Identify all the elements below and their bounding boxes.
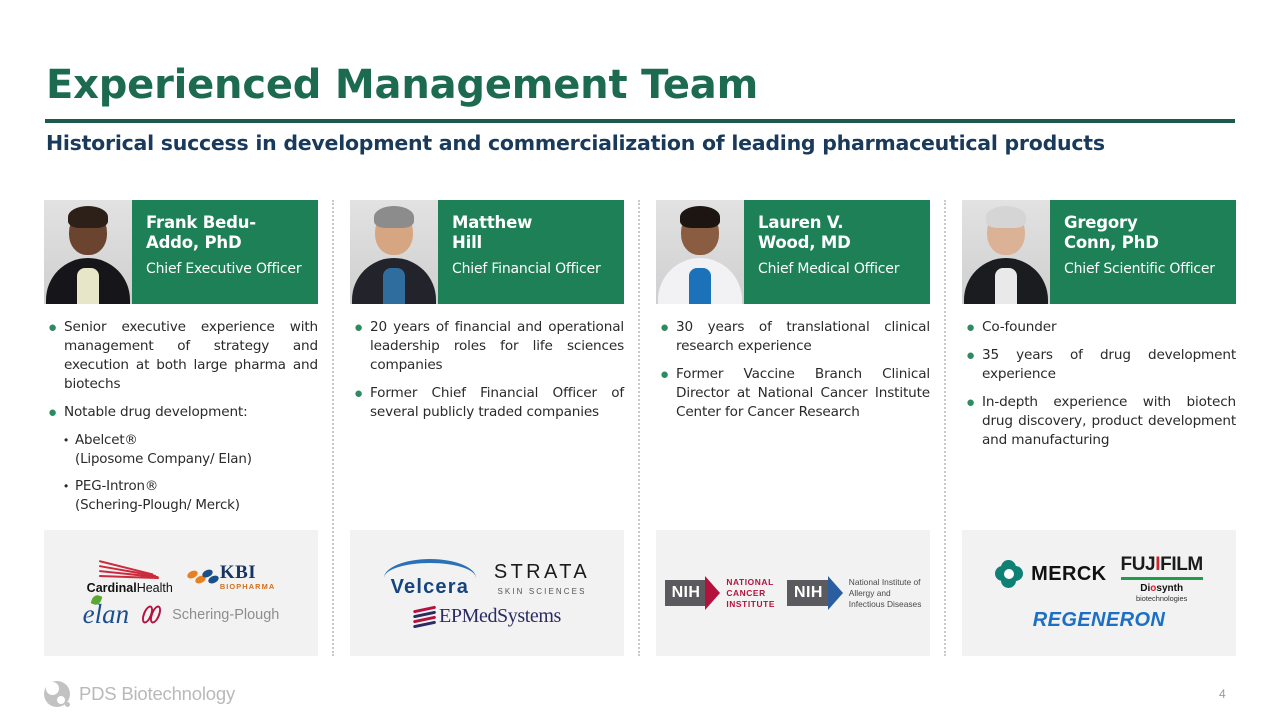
pds-swirl-icon [44,681,70,707]
schering-plough-icon [143,604,165,626]
nih-niaid-logo: NIH National Institute of Allergy and In… [787,576,921,610]
bullet-dot-icon: ● [962,346,982,384]
cardinal-health-icon [99,558,161,580]
person-name: Gregory Conn, PhD [1064,213,1226,253]
team-member-column: Frank Bedu- Addo, PhD Chief Executive Of… [44,200,318,656]
bullet-dot-icon: ● [962,318,982,337]
person-name-block: Matthew Hill Chief Financial Officer [438,200,624,304]
person-card: Matthew Hill Chief Financial Officer [350,200,624,304]
bullet-dot-icon: ● [44,318,64,394]
person-name: Matthew Hill [452,213,614,253]
pds-biotechnology-logo: PDS Biotechnology [44,681,235,707]
bullet-dot-icon: ● [350,384,370,422]
bullet-item: ● In-depth experience with biotech drug … [962,393,1236,450]
company-logo-panel: CardinalHealth KBI BIOPHARMA [44,530,318,656]
bullet-list: ● 20 years of financial and operational … [350,318,624,422]
merck-icon [995,560,1023,588]
person-card: Gregory Conn, PhD Chief Scientific Offic… [962,200,1236,304]
regeneron-logo: REGENERON [1033,609,1166,632]
bullet-dot-icon: ● [44,403,64,422]
portrait-photo [350,200,438,304]
column-divider [944,200,946,656]
page-number: 4 [1219,687,1226,701]
bullet-item: ● Senior executive experience with manag… [44,318,318,394]
person-role: Chief Medical Officer [758,261,920,278]
kbi-biopharma-logo: KBI BIOPHARMA [187,563,275,590]
team-member-column: Matthew Hill Chief Financial Officer ● 2… [350,200,624,656]
sub-bullet-item: • PEG-Intron® (Schering-Plough/ Merck) [64,477,318,515]
cardinal-health-logo: CardinalHealth [87,558,173,595]
bullet-item: ● 20 years of financial and operational … [350,318,624,375]
schering-plough-logo: Schering-Plough [143,604,279,626]
bullet-item: ● Co-founder [962,318,1236,337]
person-name-block: Gregory Conn, PhD Chief Scientific Offic… [1050,200,1236,304]
bullet-list: ● Co-founder ● 35 years of drug developm… [962,318,1236,450]
person-name: Lauren V. Wood, MD [758,213,920,253]
bullet-list: ● 30 years of translational clinical res… [656,318,930,422]
bullet-dot-icon: ● [656,318,676,356]
portrait-photo [44,200,132,304]
strata-skin-sciences-logo: STRATA SKIN SCIENCES [494,561,590,596]
person-role: Chief Financial Officer [452,261,614,278]
epmedsystems-logo: EPMedSystems [413,605,561,628]
fujifilm-bar-icon [1121,577,1203,580]
sub-bullet-dot-icon: • [64,431,75,469]
column-divider [638,200,640,656]
bullet-item: ● Former Vaccine Branch Clinical Directo… [656,365,930,422]
management-team-grid: Frank Bedu- Addo, PhD Chief Executive Of… [44,200,1236,656]
page-subtitle: Historical success in development and co… [46,131,1241,155]
person-card: Lauren V. Wood, MD Chief Medical Officer [656,200,930,304]
elan-logo: elan [83,601,130,628]
person-name-block: Lauren V. Wood, MD Chief Medical Officer [744,200,930,304]
velcera-logo: Velcera [384,559,476,599]
company-name: PDS Biotechnology [79,683,235,705]
person-card: Frank Bedu- Addo, PhD Chief Executive Of… [44,200,318,304]
bullet-item: ● 35 years of drug development experienc… [962,346,1236,384]
portrait-photo [656,200,744,304]
fujifilm-diosynth-logo: FUJIFILM Diosynth biotechnologies [1121,554,1203,603]
sub-bullet-item: • Abelcet® (Liposome Company/ Elan) [64,431,318,469]
company-logo-panel: NIH National Cancer Institute NIH [656,530,930,656]
epmedsystems-heart-icon [413,606,436,627]
person-name-block: Frank Bedu- Addo, PhD Chief Executive Of… [132,200,318,304]
nih-national-cancer-institute-logo: NIH National Cancer Institute [665,576,775,610]
portrait-photo [962,200,1050,304]
bullet-list: ● Senior executive experience with manag… [44,318,318,515]
nih-icon: NIH [787,576,843,610]
nih-chevron-icon [705,576,720,610]
bullet-dot-icon: ● [962,393,982,450]
bullet-item: ● Former Chief Financial Officer of seve… [350,384,624,422]
column-divider [332,200,334,656]
person-name: Frank Bedu- Addo, PhD [146,213,308,253]
sub-bullet-list: • Abelcet® (Liposome Company/ Elan) • PE… [64,431,318,515]
bullet-item: ● 30 years of translational clinical res… [656,318,930,356]
sub-bullet-dot-icon: • [64,477,75,515]
person-role: Chief Executive Officer [146,261,308,278]
team-member-column: Gregory Conn, PhD Chief Scientific Offic… [962,200,1236,656]
company-logo-panel: Velcera STRATA SKIN SCIENCES EPMedSystem… [350,530,624,656]
title-divider-rule [45,119,1235,123]
nih-chevron-icon [828,576,843,610]
team-member-column: Lauren V. Wood, MD Chief Medical Officer… [656,200,930,656]
merck-logo: MERCK [995,560,1106,588]
bullet-dot-icon: ● [350,318,370,375]
bullet-item: ● Notable drug development: [44,403,318,422]
nih-icon: NIH [665,576,721,610]
person-role: Chief Scientific Officer [1064,261,1226,278]
bullet-dot-icon: ● [656,365,676,422]
kbi-beans-icon [187,568,217,586]
page-title: Experienced Management Team [46,62,1236,108]
company-logo-panel: MERCK FUJIFILM Diosynth biotechnologies … [962,530,1236,656]
